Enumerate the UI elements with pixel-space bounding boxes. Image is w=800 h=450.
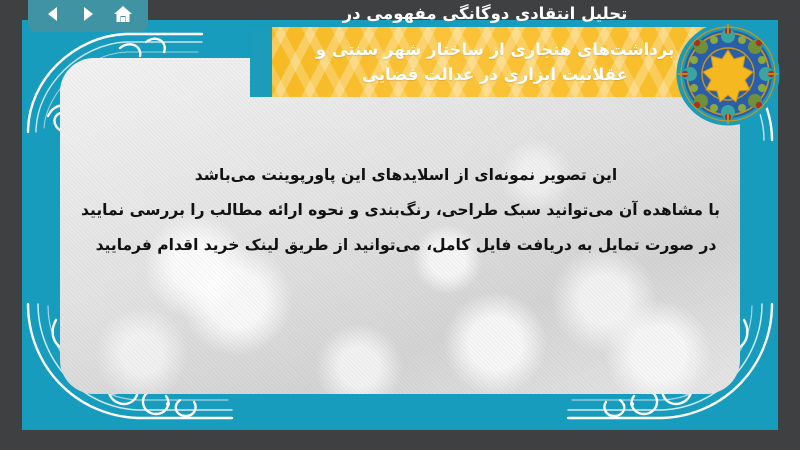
- slide-title-band: برداشت‌های هنجاری از ساختار شهر سنتی و ع…: [250, 27, 740, 97]
- slide-viewer: این تصویر نمونه‌ای از اسلایدهای این پاور…: [0, 0, 800, 450]
- slide-body-text: این تصویر نمونه‌ای از اسلایدهای این پاور…: [92, 158, 720, 263]
- forward-icon[interactable]: [75, 2, 101, 26]
- body-line-1: این تصویر نمونه‌ای از اسلایدهای این پاور…: [92, 158, 720, 193]
- home-icon[interactable]: [110, 2, 136, 26]
- body-line-3: در صورت تمایل به دریافت فایل کامل، می‌تو…: [92, 228, 720, 263]
- slide-title-line-2: عقلانیت ابزاری در عدالت فضایی: [362, 62, 628, 87]
- back-icon[interactable]: [40, 2, 66, 26]
- title-band-left-edge: [250, 27, 272, 97]
- slide-title-overline: تحلیل انتقادی دوگانگی مفهومی در: [250, 2, 720, 26]
- slide-title-line-1: برداشت‌های هنجاری از ساختار شهر سنتی و: [316, 37, 674, 62]
- slide-navigation[interactable]: [28, 0, 148, 32]
- body-line-2: با مشاهده آن می‌توانید سبک طراحی، رنگ‌بن…: [92, 193, 720, 228]
- persian-medallion-ornament: [676, 22, 780, 126]
